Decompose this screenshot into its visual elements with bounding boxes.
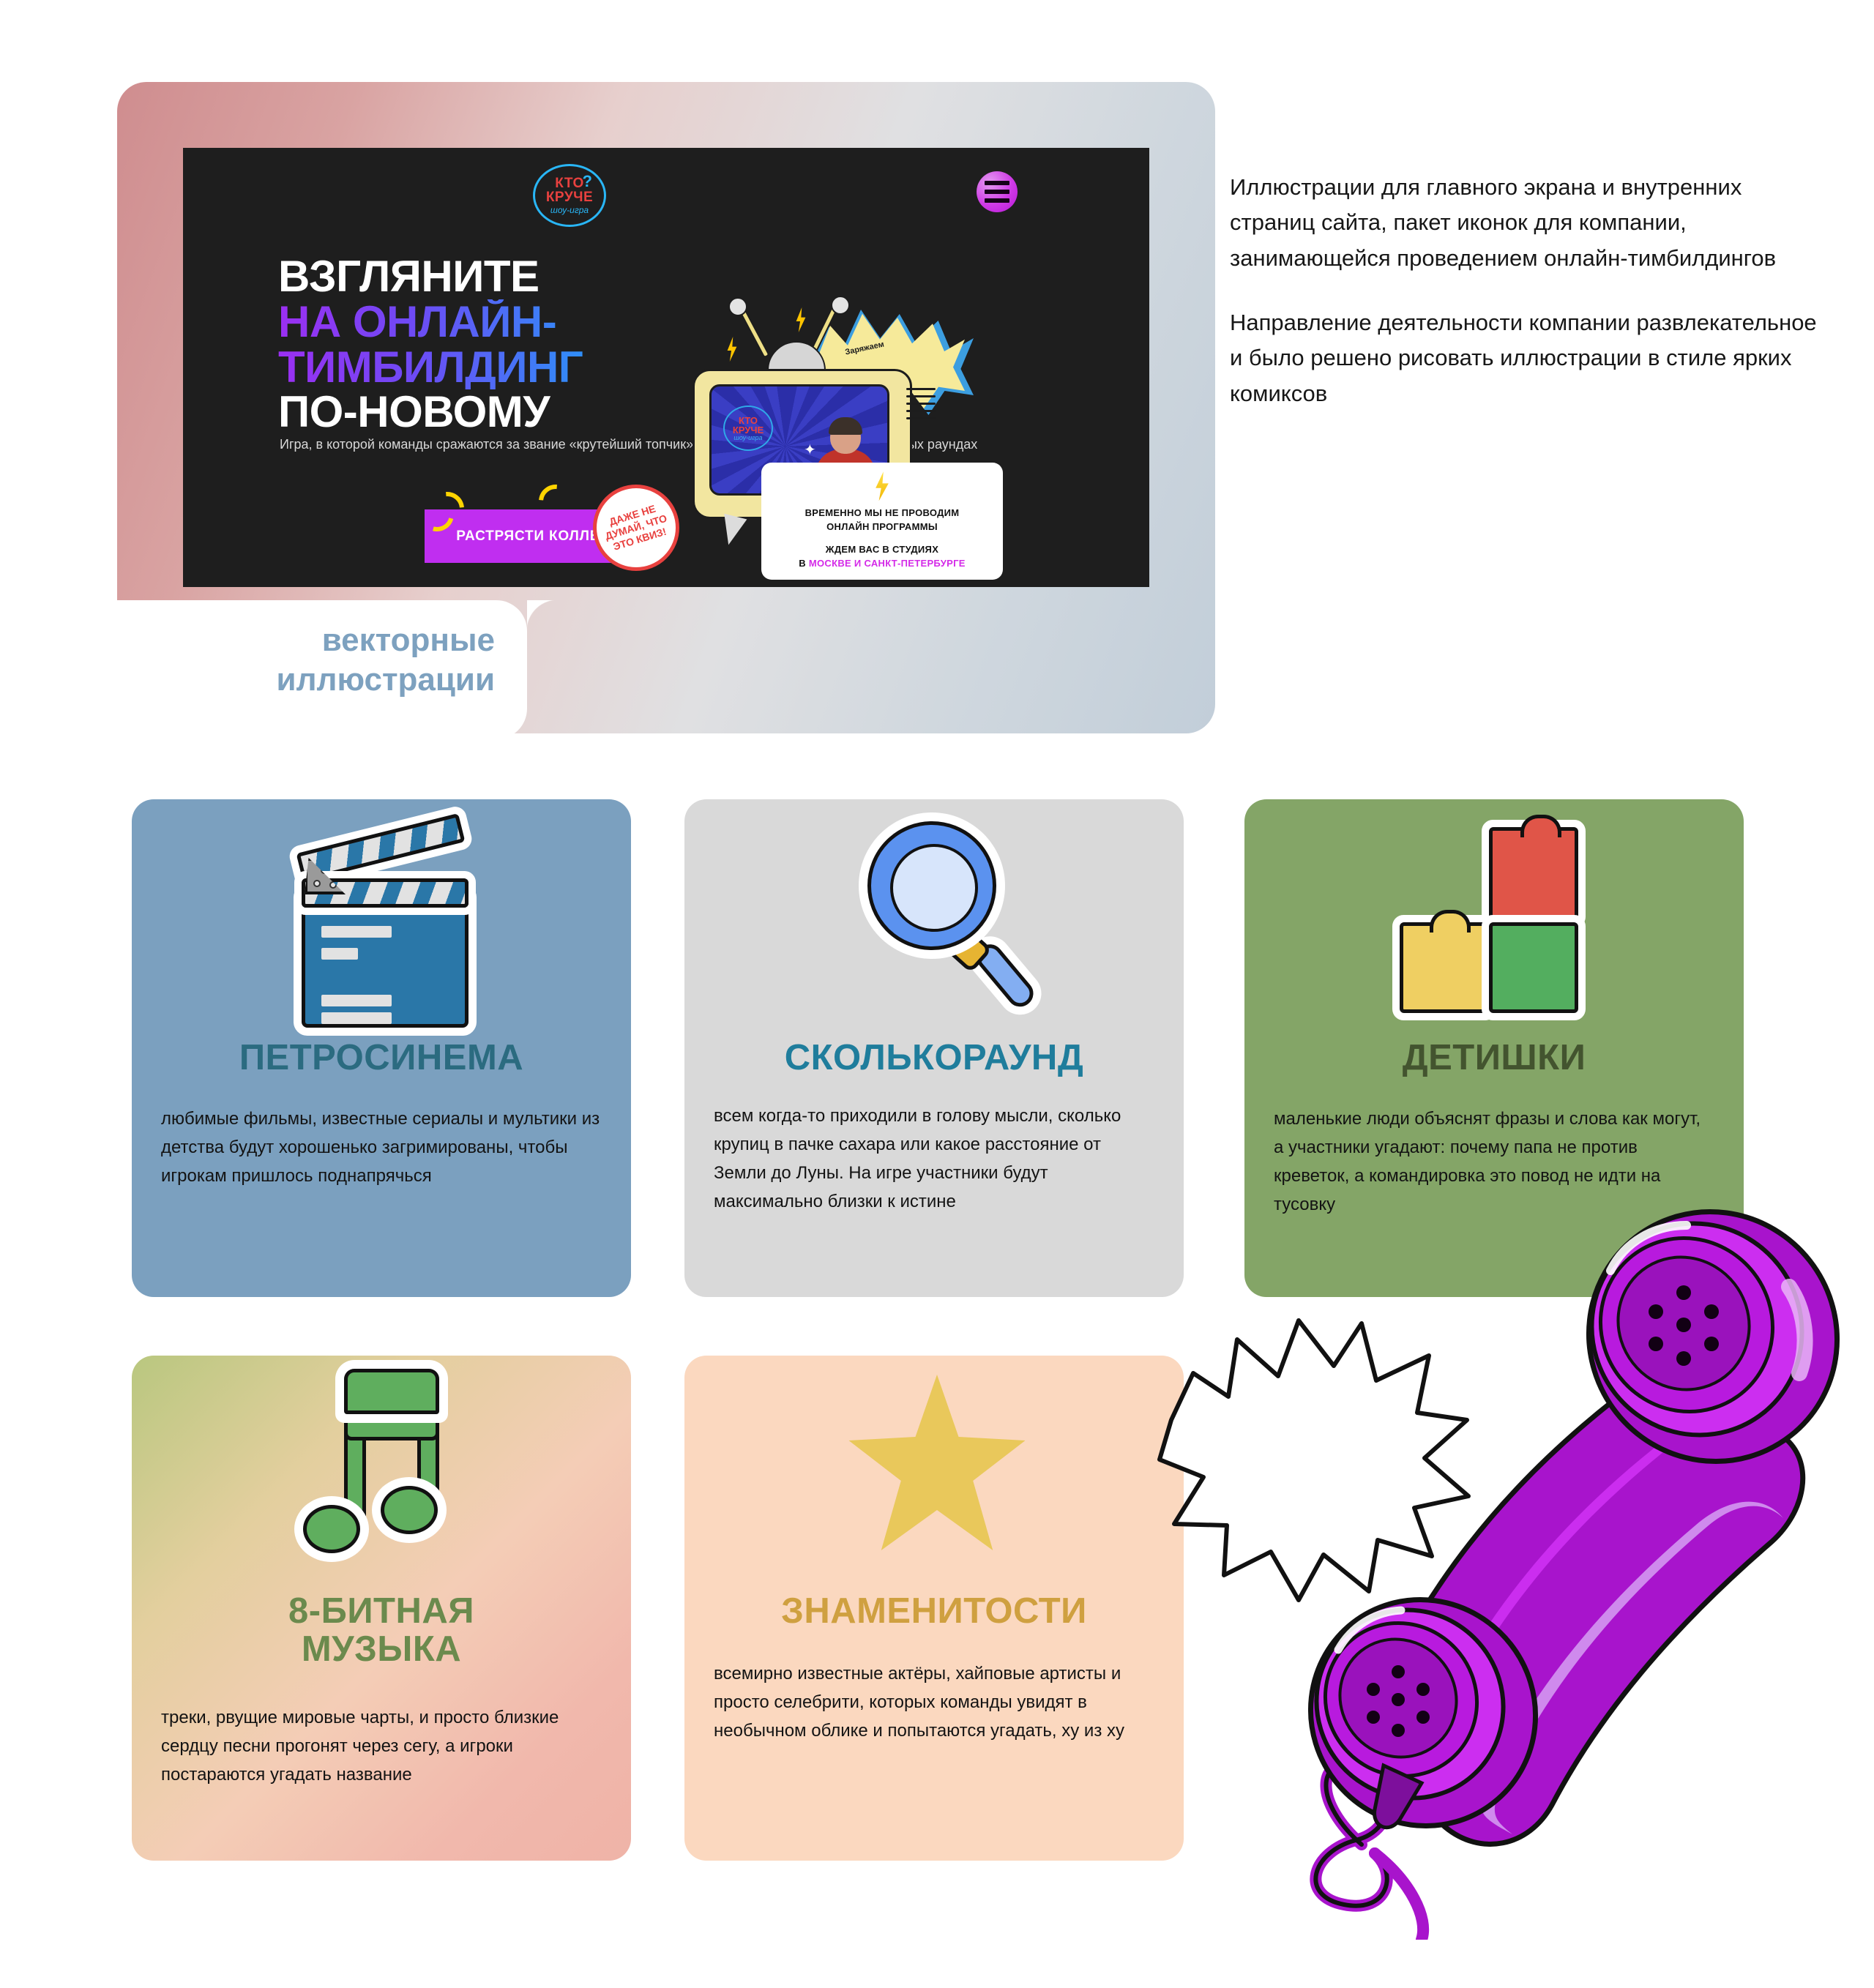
music-note-icon: [299, 1369, 482, 1581]
card-title: ПЕТРОСИНЕМА: [132, 1039, 631, 1077]
icon-zone: [1244, 799, 1744, 1034]
note-head-right: [381, 1486, 438, 1534]
magnifier-lens: [867, 821, 996, 950]
puzzle-piece-red: [1489, 827, 1578, 921]
handset-body: [1358, 1369, 1803, 1844]
headline-line-2: НА ОНЛАЙН-: [278, 299, 583, 345]
card-title: ЗНАМЕНИТОСТИ: [684, 1593, 1184, 1631]
note-head-left: [303, 1505, 360, 1553]
headline-line-4: ПО-НОВОМУ: [278, 389, 583, 435]
card-bitmusic[interactable]: 8-БИТНАЯ МУЗЫКА треки, рвущие мировые ча…: [132, 1356, 631, 1861]
notice-line-4-prefix: В: [799, 558, 809, 569]
clapperboard-icon: [275, 815, 495, 1020]
card-description: всемирно известные актёры, хайповые арти…: [684, 1660, 1184, 1746]
headline-line-1: ВЗГЛЯНИТЕ: [278, 254, 583, 299]
notice-cities-highlight: МОСКВЕ И САНКТ-ПЕТЕРБУРГЕ: [809, 558, 966, 569]
quiz-badge: ДАЖЕ НЕ ДУМАЙ, ЧТО ЭТО КВИЗ!: [593, 485, 679, 571]
brand-logo: ? КТО КРУЧЕ шоу-игра: [533, 164, 606, 227]
vector-label-line-2: иллюстрации: [117, 660, 495, 700]
hero-headline: ВЗГЛЯНИТЕ НА ОНЛАЙН- ТИМБИЛДИНГ ПО-НОВОМ…: [278, 254, 583, 435]
card-description: маленькие люди объяснят фразы и слова ка…: [1244, 1105, 1744, 1219]
tv-logo-line-1: КТО: [739, 416, 758, 425]
note-beam: [344, 1369, 439, 1414]
notice-line-1: ВРЕМЕННО МЫ НЕ ПРОВОДИМ: [805, 507, 960, 520]
notice-line-3: ЖДЕМ ВАС В СТУДИЯХ: [826, 543, 938, 557]
hamburger-menu-icon[interactable]: [977, 171, 1018, 212]
card-description: треки, рвущие мировые чарты, и просто бл…: [132, 1704, 631, 1790]
card-skolkoraund[interactable]: СКОЛЬКОРАУНД всем когда-то приходили в г…: [684, 799, 1184, 1297]
telephone-handset-illustration: [1142, 1200, 1874, 1940]
lightning-bolt-icon-3: [874, 471, 890, 501]
poster-root: ? КТО КРУЧЕ шоу-игра ВЗГЛЯНИТЕ НА ОНЛАЙН…: [0, 0, 1874, 1988]
notice-line-4: В МОСКВЕ И САНКТ-ПЕТЕРБУРГЕ: [799, 557, 965, 571]
icon-zone: [684, 799, 1184, 1034]
note-hook: [344, 1414, 439, 1440]
tv-speed-lines: [906, 388, 936, 425]
menu-bar-3: [985, 198, 1009, 203]
notice-line-2: ОНЛАЙН ПРОГРАММЫ: [826, 520, 938, 534]
icon-zone: [132, 799, 631, 1034]
tv-logo-line-3: шоу-игра: [733, 435, 762, 441]
description-paragraph-1: Иллюстрации для главного экрана и внутре…: [1230, 170, 1823, 276]
tv-antenna-knob-right: [831, 296, 850, 315]
logo-question-mark: ?: [583, 173, 592, 190]
icon-zone: [684, 1356, 1184, 1590]
earpiece-lower: [1265, 1554, 1581, 1871]
card-celebs[interactable]: ЗНАМЕНИТОСТИ всемирно известные актёры, …: [684, 1356, 1184, 1861]
info-notice-box: ВРЕМЕННО МЫ НЕ ПРОВОДИМ ОНЛАЙН ПРОГРАММЫ…: [761, 463, 1003, 580]
logo-line-3: шоу-игра: [550, 206, 589, 214]
tv-logo-line-2: КРУЧЕ: [733, 425, 764, 435]
card-title: 8-БИТНАЯ МУЗЫКА: [132, 1593, 631, 1669]
card-description: любимые фильмы, известные сериалы и муль…: [132, 1105, 631, 1191]
tv-antenna-knob-left: [728, 297, 747, 316]
star-icon: [847, 1375, 1027, 1558]
handset-cord: [1315, 1763, 1423, 1940]
tv-neon-logo: КТО КРУЧЕ шоу-игра: [723, 406, 773, 451]
vector-label-line-1: векторные: [117, 621, 495, 660]
logo-line-2: КРУЧЕ: [546, 190, 593, 204]
puzzle-piece-green: [1489, 922, 1578, 1013]
card-petrocinema[interactable]: ПЕТРОСИНЕМА любимые фильмы, известные се…: [132, 799, 631, 1297]
logo-line-1: КТО: [555, 176, 583, 190]
card-title: ДЕТИШКИ: [1244, 1039, 1744, 1077]
card-title: СКОЛЬКОРАУНД: [684, 1039, 1184, 1077]
description-paragraph-2: Направление деятельности компании развле…: [1230, 305, 1823, 411]
clapper-board: [302, 892, 468, 1028]
headline-line-3: ТИМБИЛДИНГ: [278, 345, 583, 390]
earpiece-holes-lower: [1367, 1665, 1430, 1737]
puzzle-icon: [1404, 820, 1602, 1025]
card-title-line-1: 8-БИТНАЯ: [288, 1591, 474, 1631]
hero-website-mockup: ? КТО КРУЧЕ шоу-игра ВЗГЛЯНИТЕ НА ОНЛАЙН…: [183, 148, 1149, 587]
puzzle-piece-yellow: [1400, 922, 1489, 1013]
vector-illustrations-label: векторные иллюстрации: [117, 621, 512, 699]
card-detishki[interactable]: ДЕТИШКИ маленькие люди объяснят фразы и …: [1244, 799, 1744, 1297]
quiz-badge-text: ДАЖЕ НЕ ДУМАЙ, ЧТО ЭТО КВИЗ!: [593, 498, 679, 558]
earpiece-holes-upper: [1649, 1285, 1719, 1366]
card-title-line-2: МУЗЫКА: [302, 1629, 461, 1669]
description-block: Иллюстрации для главного экрана и внутре…: [1230, 170, 1823, 411]
speech-burst: [1160, 1320, 1468, 1600]
menu-bar-1: [985, 181, 1009, 185]
card-description: всем когда-то приходили в голову мысли, …: [684, 1102, 1184, 1217]
magnifier-icon: [844, 817, 1034, 1029]
menu-bar-2: [985, 190, 1009, 194]
icon-zone: [132, 1356, 631, 1590]
